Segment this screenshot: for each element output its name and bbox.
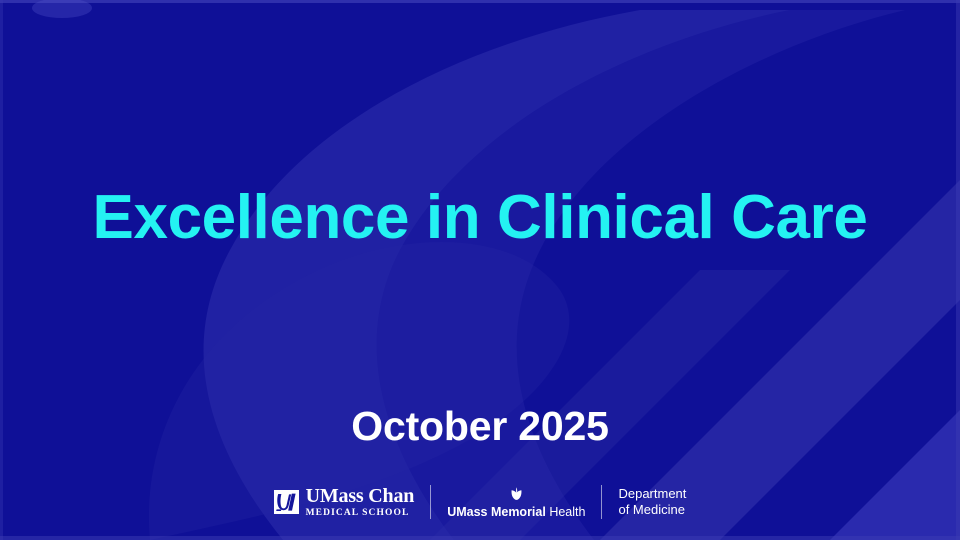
umass-chan-logo: UMass Chan MEDICAL SCHOOL xyxy=(274,485,415,519)
slide-date: October 2025 xyxy=(0,405,960,448)
umass-memorial-bud-icon xyxy=(508,486,525,503)
umass-memorial-logo: UMass Memorial Health xyxy=(447,486,585,519)
title-slide: Excellence in Clinical Care October 2025… xyxy=(0,0,960,540)
umass-chan-name: UMass Chan xyxy=(306,486,415,506)
department-line-2: of Medicine xyxy=(618,502,686,518)
logo-divider-2 xyxy=(601,485,602,519)
bottom-edge-strip xyxy=(0,536,960,540)
page-title: Excellence in Clinical Care xyxy=(0,186,960,249)
logo-divider-1 xyxy=(430,485,431,519)
logo-group: UMass Chan MEDICAL SCHOOL UMass Memorial… xyxy=(274,481,687,523)
umass-memorial-wordmark: UMass Memorial Health xyxy=(447,506,585,519)
umass-chan-subtitle: MEDICAL SCHOOL xyxy=(306,509,415,519)
date-container: October 2025 xyxy=(0,405,960,448)
umass-chan-wordmark: UMass Chan MEDICAL SCHOOL xyxy=(306,486,415,519)
title-container: Excellence in Clinical Care xyxy=(0,186,960,249)
department-line-1: Department xyxy=(618,486,686,502)
logo-bar: UMass Chan MEDICAL SCHOOL UMass Memorial… xyxy=(0,481,960,523)
right-edge-strip xyxy=(956,0,960,540)
top-edge-strip xyxy=(0,0,960,3)
department-of-medicine-logo: Department of Medicine xyxy=(618,486,686,518)
umass-chan-u-monogram-icon xyxy=(274,490,299,514)
background-artwork xyxy=(0,0,960,540)
umass-memorial-bold-text: UMass Memorial xyxy=(447,505,546,519)
left-edge-strip xyxy=(0,0,3,540)
umass-memorial-light-text: Health xyxy=(549,505,585,519)
